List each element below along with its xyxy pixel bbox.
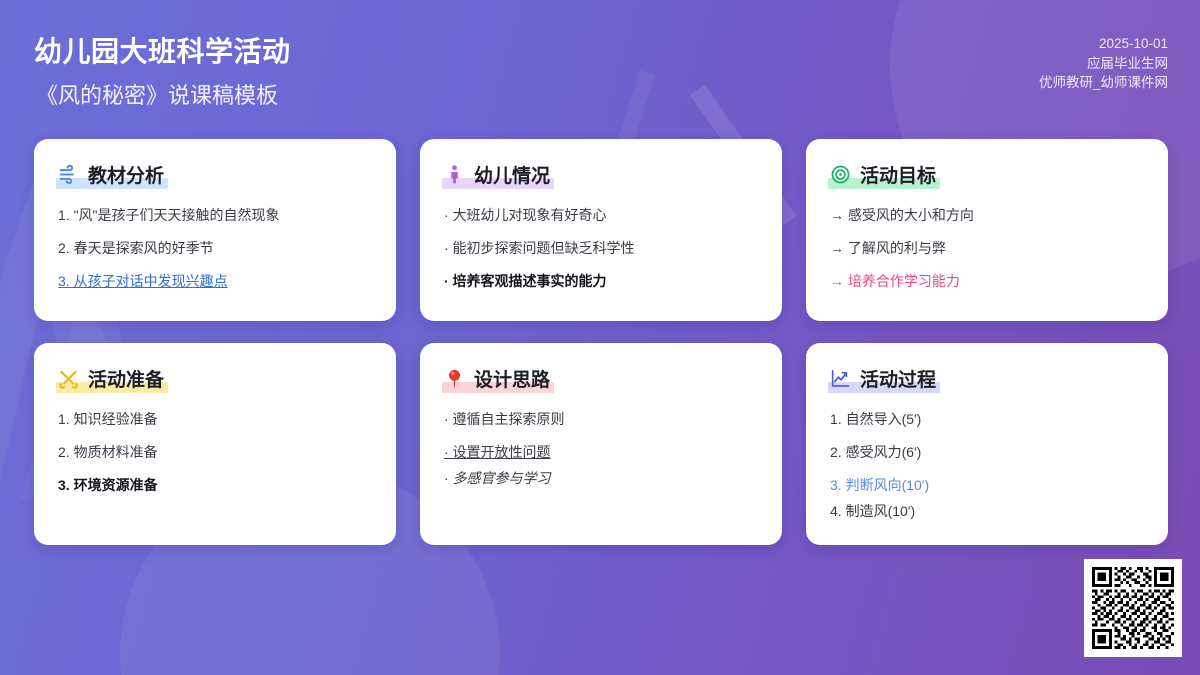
list-item: 2. 感受风力(6') [830,443,1144,462]
pin-icon [444,368,465,389]
card-item-list: · 遵循自主探索原则· 设置开放性问题· 多感官参与学习 [444,410,758,488]
card-item-list: → 感受风的大小和方向→ 了解风的利与弊→ 培养合作学习能力 [830,206,1144,291]
card-title: 设计思路 [474,365,550,392]
chart-increasing-icon [830,368,851,389]
card-children-situation[interactable]: 幼儿情况· 大班幼儿对现象有好奇心· 能初步探索问题但缺乏科学性· 培养客观描述… [420,139,782,321]
tools-icon [58,368,79,389]
list-item: 1. 自然导入(5') [830,410,1144,429]
list-item: 4. 制造风(10') [830,502,1144,521]
card-title: 活动目标 [860,161,936,188]
list-item: → 感受风的大小和方向 [830,206,1144,225]
page-title: 幼儿园大班科学活动 [34,30,291,70]
card-activity-process[interactable]: 活动过程1. 自然导入(5')2. 感受风力(6')3. 判断风向(10')4.… [806,343,1168,545]
card-title: 活动准备 [88,365,164,392]
list-item: 1. "风"是孩子们天天接触的自然现象 [58,206,372,225]
card-item-list: 1. "风"是孩子们天天接触的自然现象2. 春天是探索风的好季节3. 从孩子对话… [58,206,372,291]
meta-brand: 优师教研_幼师课件网 [1039,73,1168,93]
card-item-list: · 大班幼儿对现象有好奇心· 能初步探索问题但缺乏科学性· 培养客观描述事实的能… [444,206,758,291]
list-item: 1. 知识经验准备 [58,410,372,429]
list-item: · 遵循自主探索原则 [444,410,758,429]
list-item: → 培养合作学习能力 [830,272,1144,291]
card-title: 幼儿情况 [474,161,550,188]
card-item-list: 1. 知识经验准备2. 物质材料准备3. 环境资源准备 [58,410,372,495]
meta-site: 应届毕业生网 [1039,54,1168,74]
list-item: 3. 判断风向(10') [830,476,1144,495]
card-grid: 教材分析1. "风"是孩子们天天接触的自然现象2. 春天是探索风的好季节3. 从… [34,139,1168,545]
card-header: 设计思路 [444,365,550,392]
card-header: 活动过程 [830,365,936,392]
wind-icon [58,164,79,185]
meta-date: 2025-10-01 [1039,34,1168,54]
card-title: 活动过程 [860,365,936,392]
card-teaching-material-analysis[interactable]: 教材分析1. "风"是孩子们天天接触的自然现象2. 春天是探索风的好季节3. 从… [34,139,396,321]
list-item: · 多感官参与学习 [444,469,758,488]
list-item: 2. 春天是探索风的好季节 [58,239,372,258]
list-item[interactable]: 3. 从孩子对话中发现兴趣点 [58,272,372,291]
header-meta: 2025-10-01 应届毕业生网 优师教研_幼师课件网 [1039,34,1168,93]
list-item: 2. 物质材料准备 [58,443,372,462]
target-icon [830,164,851,185]
card-header: 教材分析 [58,161,164,188]
list-item: · 培养客观描述事实的能力 [444,272,758,291]
slide-header: 幼儿园大班科学活动 《风的秘密》说课稿模板 2025-10-01 应届毕业生网 … [0,0,1200,125]
card-activity-preparation[interactable]: 活动准备1. 知识经验准备2. 物质材料准备3. 环境资源准备 [34,343,396,545]
card-activity-goals[interactable]: 活动目标→ 感受风的大小和方向→ 了解风的利与弊→ 培养合作学习能力 [806,139,1168,321]
card-header: 活动准备 [58,365,164,392]
card-item-list: 1. 自然导入(5')2. 感受风力(6')3. 判断风向(10')4. 制造风… [830,410,1144,521]
list-item: · 能初步探索问题但缺乏科学性 [444,239,758,258]
qr-code-image [1092,567,1174,649]
card-title: 教材分析 [88,161,164,188]
card-header: 活动目标 [830,161,936,188]
qr-code[interactable] [1084,559,1182,657]
list-item: · 设置开放性问题 [444,443,758,462]
list-item: 3. 环境资源准备 [58,476,372,495]
card-design-approach[interactable]: 设计思路· 遵循自主探索原则· 设置开放性问题· 多感官参与学习 [420,343,782,545]
slide-root: 幼儿园大班科学活动 《风的秘密》说课稿模板 2025-10-01 应届毕业生网 … [0,0,1200,675]
card-header: 幼儿情况 [444,161,550,188]
list-item: → 了解风的利与弊 [830,239,1144,258]
list-item: · 大班幼儿对现象有好奇心 [444,206,758,225]
child-icon [444,164,465,185]
page-subtitle: 《风的秘密》说课稿模板 [36,78,278,110]
